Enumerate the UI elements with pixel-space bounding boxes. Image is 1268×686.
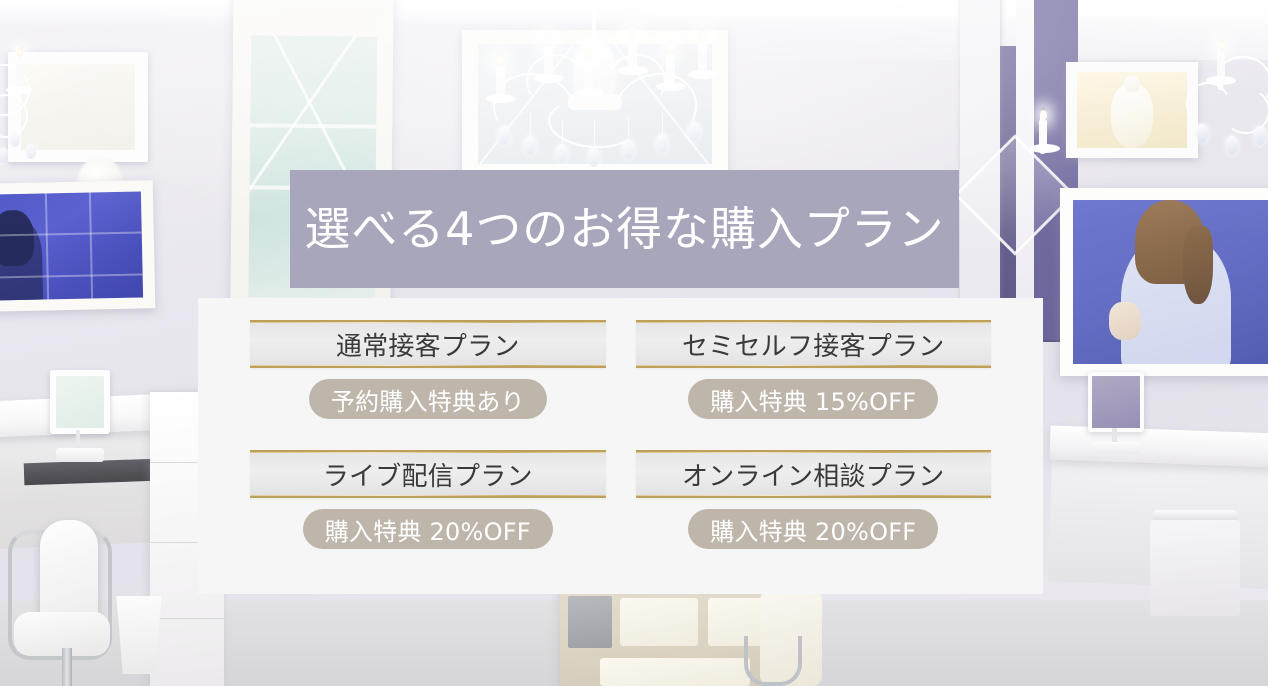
promo-overlay: 選べる4つのお得な購入プラン 通常接客プラン 予約購入特典あり セミセルフ接客プ… [0,0,1268,686]
plan-benefit-text: 購入特典 20%OFF [710,512,916,547]
plan-header-normal: 通常接客プラン [250,320,606,368]
plan-name: オンライン相談プラン [682,456,945,493]
plan-benefit-badge: 購入特典 15%OFF [688,379,938,419]
plan-benefit-badge: 購入特典 20%OFF [303,509,553,549]
plan-card-normal[interactable]: 通常接客プラン 予約購入特典あり [250,320,606,442]
plans-grid: 通常接客プラン 予約購入特典あり セミセルフ接客プラン 購入特典 15%OFF … [198,298,1043,594]
plan-card-live[interactable]: ライブ配信プラン 購入特典 20%OFF [250,450,606,572]
plan-benefit-badge: 購入特典 20%OFF [688,509,938,549]
plan-card-semiself[interactable]: セミセルフ接客プラン 購入特典 15%OFF [636,320,992,442]
plan-benefit-text: 予約購入特典あり [331,382,525,417]
plan-name: セミセルフ接客プラン [682,326,945,363]
plans-panel: 通常接客プラン 予約購入特典あり セミセルフ接客プラン 購入特典 15%OFF … [198,298,1043,594]
plan-header-semiself: セミセルフ接客プラン [636,320,992,368]
plan-benefit-badge: 予約購入特典あり [309,379,547,419]
plan-card-online[interactable]: オンライン相談プラン 購入特典 20%OFF [636,450,992,572]
plan-benefit-text: 購入特典 15%OFF [710,382,916,417]
plan-header-live: ライブ配信プラン [250,450,606,498]
plan-name: ライブ配信プラン [323,456,533,493]
plan-name: 通常接客プラン [336,326,520,363]
page-title: 選べる4つのお得な購入プラン [304,206,944,252]
hero-title-band: 選べる4つのお得な購入プラン [290,170,959,288]
plan-benefit-text: 購入特典 20%OFF [325,512,531,547]
plan-header-online: オンライン相談プラン [636,450,992,498]
